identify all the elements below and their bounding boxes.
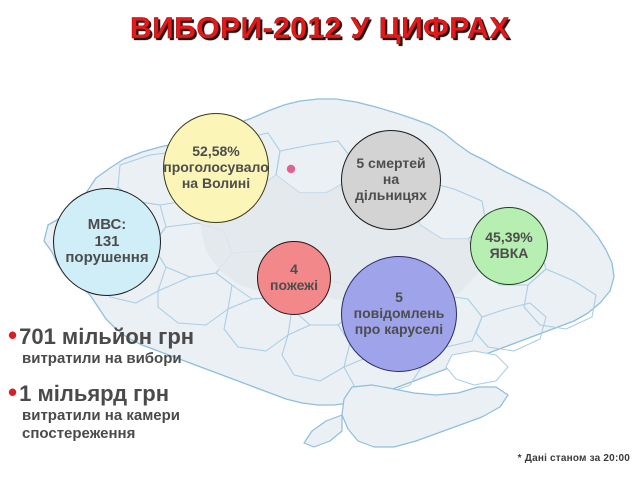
stat-subtext: витратили на вибори xyxy=(22,350,308,368)
bubble-national-turnout[interactable]: 45,39% ЯВКА xyxy=(470,207,548,285)
bubble-deaths-at-polls[interactable]: 5 смертей на дільницях xyxy=(341,130,441,230)
infographic-page: ВИБОРИ-2012 У ЦИФРАХ xyxy=(0,0,640,480)
bubble-fires-label: 4 пожежі xyxy=(268,262,320,293)
stat-headline-row: • 701 мільйон грн xyxy=(8,325,308,348)
stat-headline: 1 мільярд грн xyxy=(19,382,169,405)
bullet-icon: • xyxy=(8,324,17,347)
stat-headline-row: • 1 мільярд грн xyxy=(8,382,308,405)
bullet-icon: • xyxy=(8,381,17,404)
footnote: * Дані станом за 20:00 xyxy=(518,453,630,464)
kyiv-dot xyxy=(287,165,295,173)
stat-headline: 701 мільйон грн xyxy=(19,325,194,348)
bubble-carousel-reports[interactable]: 5 повідомлень про каруселі xyxy=(341,256,457,372)
bubble-volyn-label: 52,58% проголосувало на Волині xyxy=(161,144,271,191)
stat-item-elections-cost: • 701 мільйон грн витратили на вибори xyxy=(8,325,308,368)
bubble-deaths-label: 5 смертей на дільницях xyxy=(353,156,429,203)
stat-subtext: витратили на камери спостереження xyxy=(22,407,308,442)
bubble-carousel-label: 5 повідомлень про каруселі xyxy=(352,290,447,337)
bubble-mvs-violations[interactable]: МВС: 131 порушення xyxy=(53,188,161,296)
bubble-mvs-label: МВС: 131 порушення xyxy=(63,217,150,267)
stat-item-cameras-cost: • 1 мільярд грн витратили на камери спос… xyxy=(8,382,308,442)
bubble-volyn-turnout[interactable]: 52,58% проголосувало на Волині xyxy=(163,113,269,223)
spending-stats: • 701 мільйон грн витратили на вибори • … xyxy=(8,325,308,456)
map-azov xyxy=(446,351,508,385)
page-title: ВИБОРИ-2012 У ЦИФРАХ xyxy=(0,12,640,46)
bubble-turnout-label: 45,39% ЯВКА xyxy=(483,230,534,261)
bubble-fires[interactable]: 4 пожежі xyxy=(257,241,331,315)
